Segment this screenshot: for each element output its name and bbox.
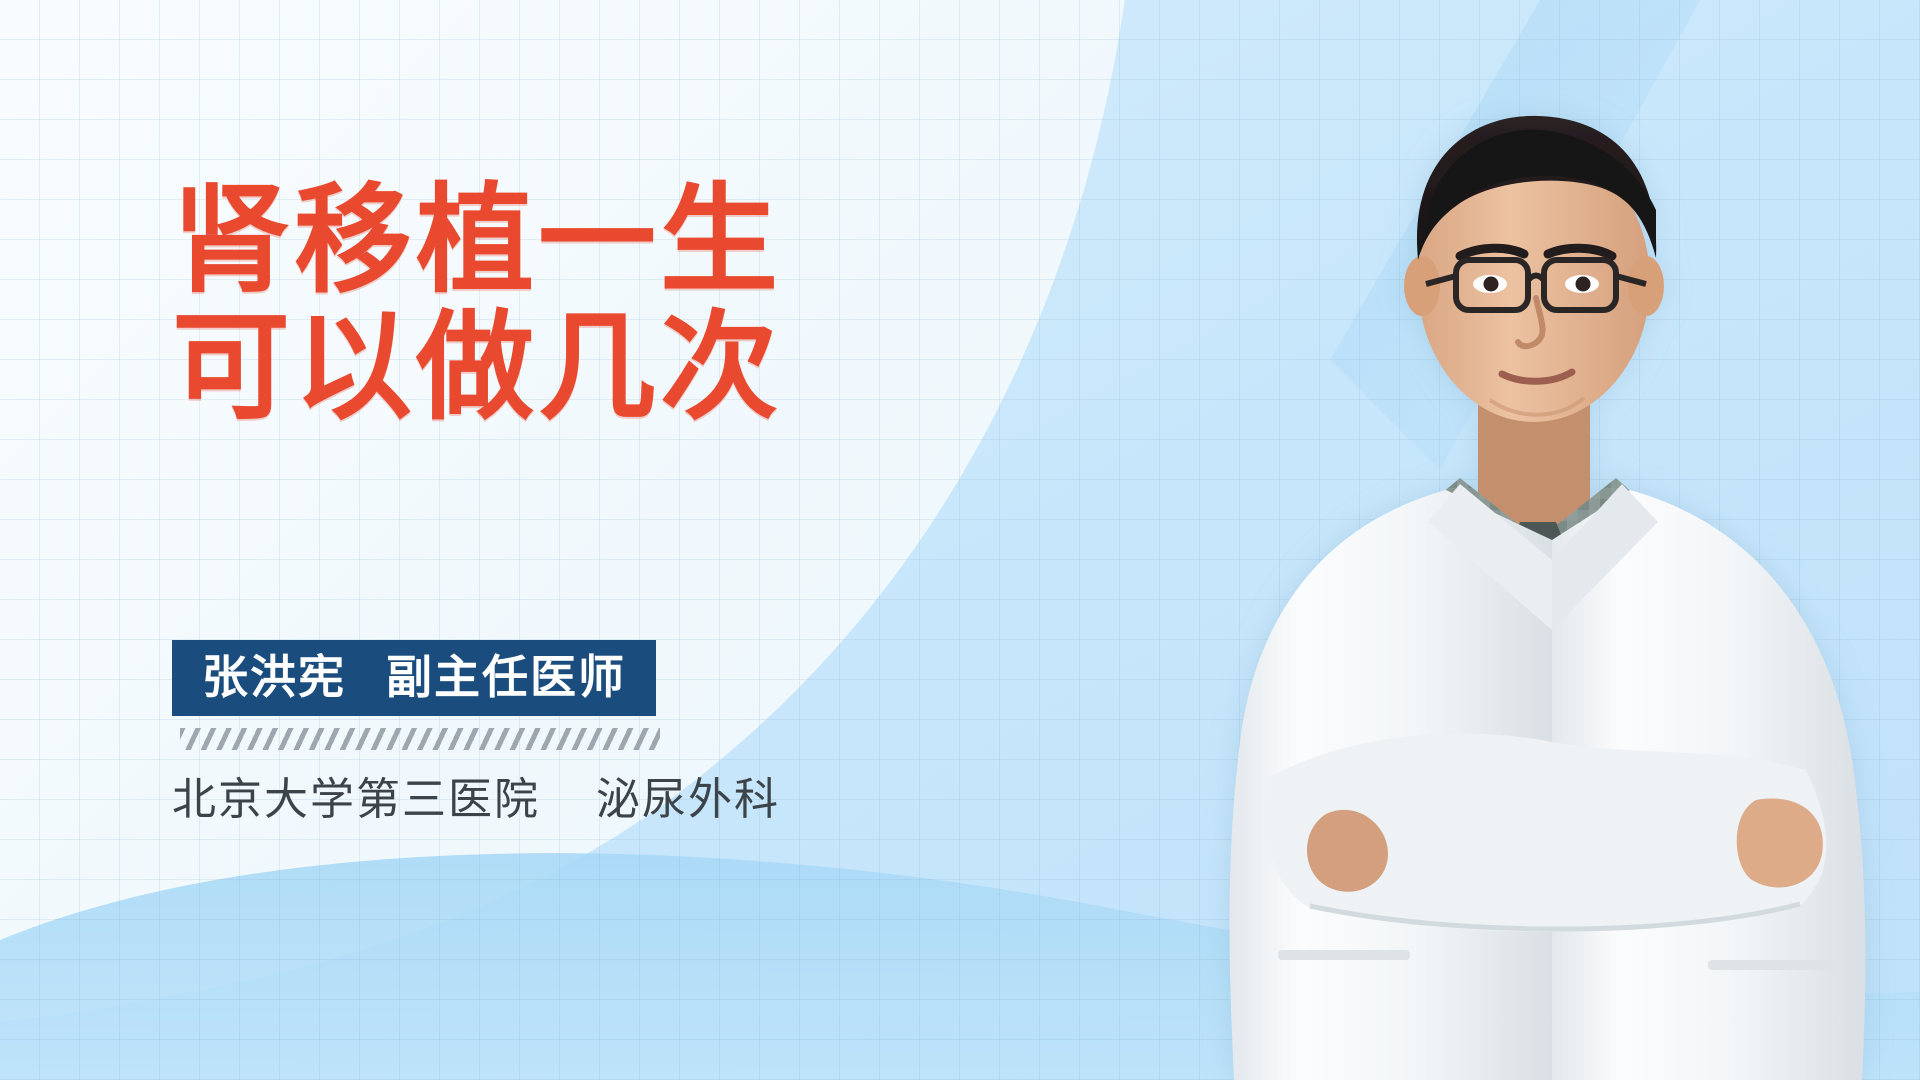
hatch-decoration <box>180 728 660 750</box>
doctor-title: 副主任医师 <box>386 651 626 703</box>
headline-line-2: 可以做几次 <box>172 305 932 432</box>
page-title: 肾移植一生 可以做几次 <box>172 178 932 433</box>
department-name: 泌尿外科 <box>596 775 780 824</box>
headline-line-1: 肾移植一生 <box>172 178 932 305</box>
doctor-affiliation: 北京大学第三医院泌尿外科 <box>172 763 780 827</box>
hospital-name: 北京大学第三医院 <box>172 775 540 824</box>
status-badge: 张洪宪副主任医师 <box>172 640 656 716</box>
doctor-name: 张洪宪 <box>202 651 346 703</box>
thumbnail-card: 肾移植一生 可以做几次 张洪宪副主任医师 北京大学第三医院泌尿外科 <box>0 0 1920 1080</box>
doctor-credential: 张洪宪副主任医师 <box>172 640 692 716</box>
text-content: 肾移植一生 可以做几次 张洪宪副主任医师 北京大学第三医院泌尿外科 <box>0 0 1000 1080</box>
